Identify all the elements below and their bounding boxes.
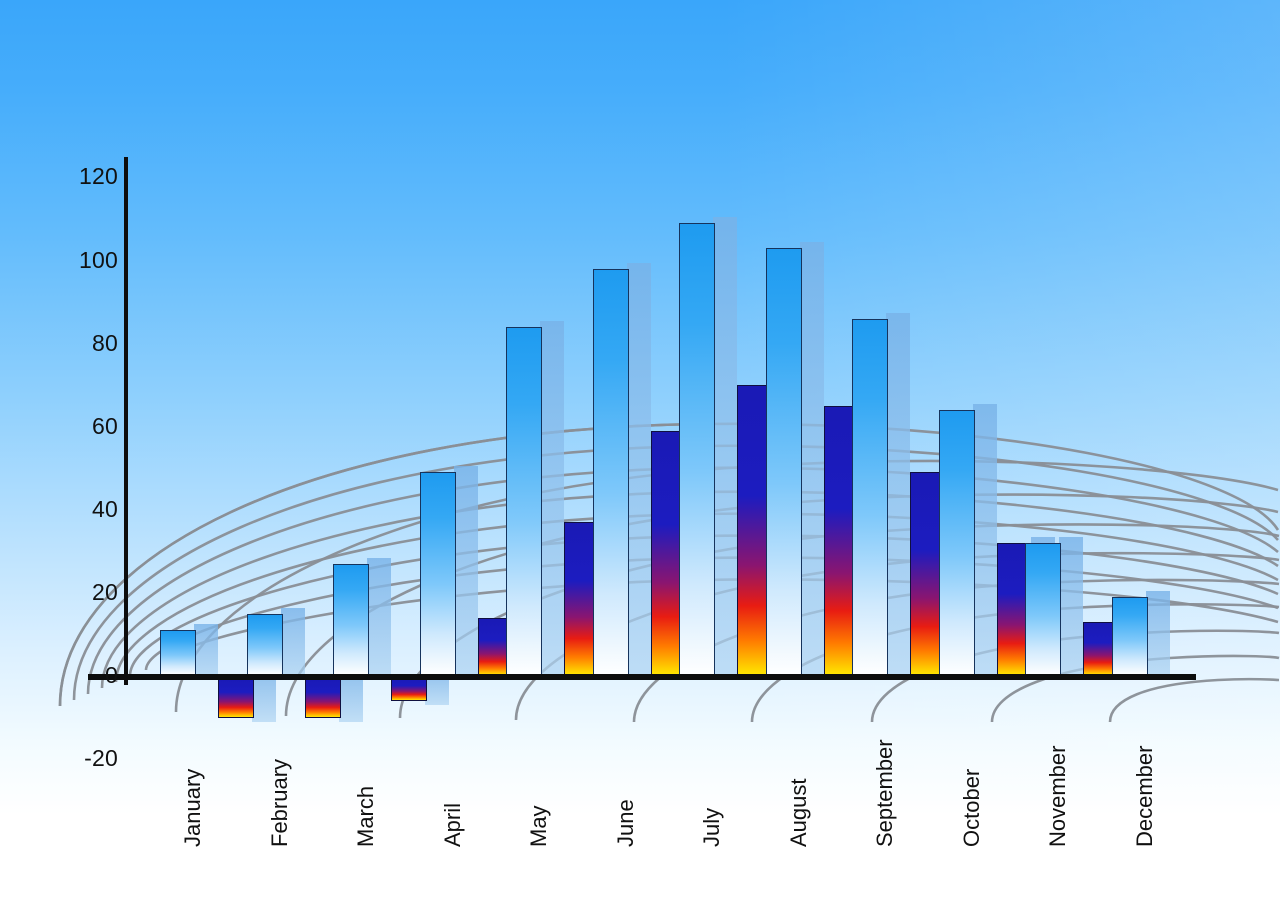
- x-label-may: May: [528, 805, 550, 847]
- y-axis-tick-labels: -20020406080100120: [0, 0, 118, 905]
- x-label-march: March: [355, 786, 377, 847]
- y-tick-20: 20: [48, 581, 118, 604]
- bar-shadow-August-s1: [800, 242, 824, 680]
- bar-shadow-November-s1: [1059, 537, 1083, 680]
- y-tick-0: 0: [48, 664, 118, 687]
- bar-shadow-March-s1: [367, 558, 391, 680]
- bar-shadow-April-s1: [454, 466, 478, 680]
- x-label-december: December: [1134, 746, 1156, 847]
- bar-front-face: [852, 319, 888, 676]
- bar-front-face: [1025, 543, 1061, 676]
- bar-February-series1[interactable]: [247, 614, 283, 676]
- y-axis-line: [124, 157, 128, 685]
- x-label-january: January: [182, 769, 204, 847]
- x-label-october: October: [961, 769, 983, 847]
- bar-January-series1[interactable]: [160, 630, 196, 676]
- bar-July-series1[interactable]: [679, 223, 715, 676]
- bar-front-face: [333, 564, 369, 676]
- bar-front-face: [247, 614, 283, 676]
- bar-April-series1[interactable]: [420, 472, 456, 676]
- x-label-july: July: [701, 808, 723, 847]
- bar-March-series1[interactable]: [333, 564, 369, 676]
- bar-May-series1[interactable]: [506, 327, 542, 676]
- bar-front-face: [160, 630, 196, 676]
- bar-front-face: [305, 676, 341, 718]
- bar-front-face: [420, 472, 456, 676]
- plot-area: -20020406080100120 JanuaryFebruaryMarchA…: [0, 0, 1280, 905]
- y-tick-120: 120: [48, 165, 118, 188]
- chart-canvas: -20020406080100120 JanuaryFebruaryMarchA…: [0, 0, 1280, 905]
- x-axis-line: [88, 674, 1196, 680]
- y-tick-100: 100: [48, 249, 118, 272]
- bar-shadow-January-s1: [194, 624, 218, 680]
- x-label-april: April: [442, 803, 464, 847]
- bar-shadow-July-s1: [713, 217, 737, 680]
- x-label-february: February: [269, 759, 291, 847]
- bar-shadow-June-s1: [627, 263, 651, 680]
- bar-August-series1[interactable]: [766, 248, 802, 676]
- bar-front-face: [1112, 597, 1148, 676]
- bar-front-face: [506, 327, 542, 676]
- x-label-september: September: [874, 739, 896, 847]
- bar-shadow-December-s1: [1146, 591, 1170, 680]
- bar-shadow-May-s1: [540, 321, 564, 680]
- bar-shadow-February-s1: [281, 608, 305, 680]
- bar-front-face: [679, 223, 715, 676]
- bar-February-series2[interactable]: [305, 676, 341, 718]
- y-tick-80: 80: [48, 332, 118, 355]
- bar-front-face: [766, 248, 802, 676]
- y-tick-40: 40: [48, 498, 118, 521]
- bar-December-series1[interactable]: [1112, 597, 1148, 676]
- y-tick-60: 60: [48, 415, 118, 438]
- x-label-november: November: [1047, 746, 1069, 847]
- bar-October-series1[interactable]: [939, 410, 975, 676]
- bar-front-face: [593, 269, 629, 676]
- y-tick--20: -20: [10, 747, 118, 770]
- x-label-june: June: [615, 799, 637, 847]
- bar-January-series2[interactable]: [218, 676, 254, 718]
- bar-front-face: [939, 410, 975, 676]
- bar-front-face: [218, 676, 254, 718]
- x-label-august: August: [788, 779, 810, 848]
- bar-September-series1[interactable]: [852, 319, 888, 676]
- bar-shadow-September-s1: [886, 313, 910, 680]
- bar-shadow-October-s1: [973, 404, 997, 680]
- bar-November-series1[interactable]: [1025, 543, 1061, 676]
- bar-June-series1[interactable]: [593, 269, 629, 676]
